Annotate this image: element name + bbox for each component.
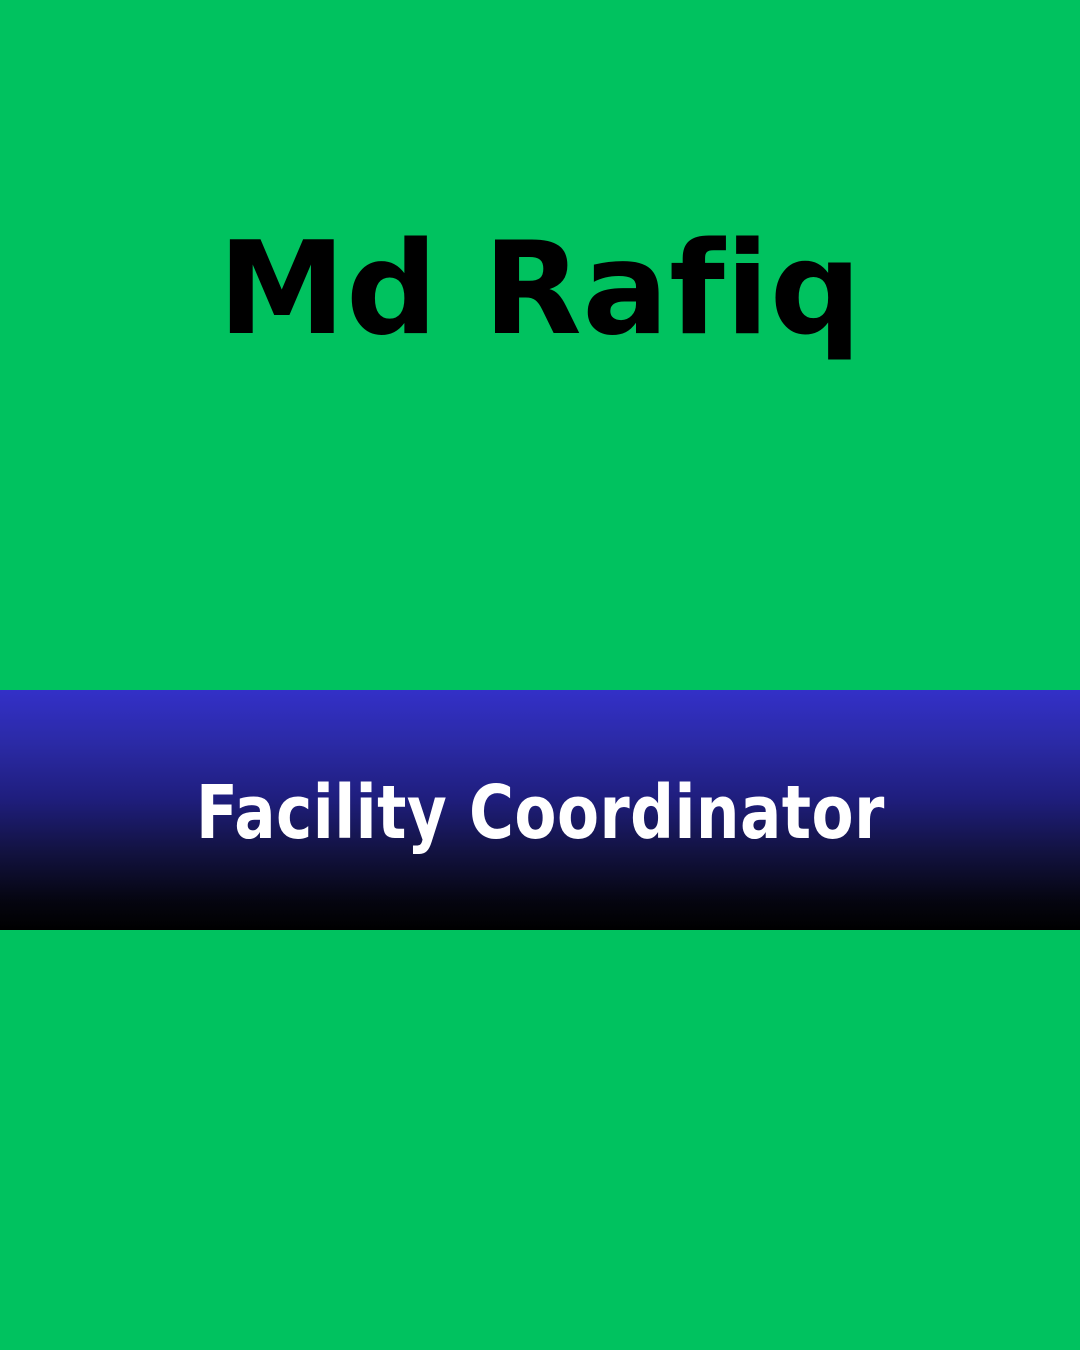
job-title-text: Facility Coordinator: [196, 776, 885, 850]
name-section: Md Rafiq: [0, 0, 1080, 690]
job-title-band: Facility Coordinator: [0, 690, 1080, 930]
page-title: Md Rafiq: [218, 226, 862, 354]
name-card-poster: Md Rafiq Facility Coordinator: [0, 0, 1080, 1350]
footer-section: [0, 930, 1080, 1350]
